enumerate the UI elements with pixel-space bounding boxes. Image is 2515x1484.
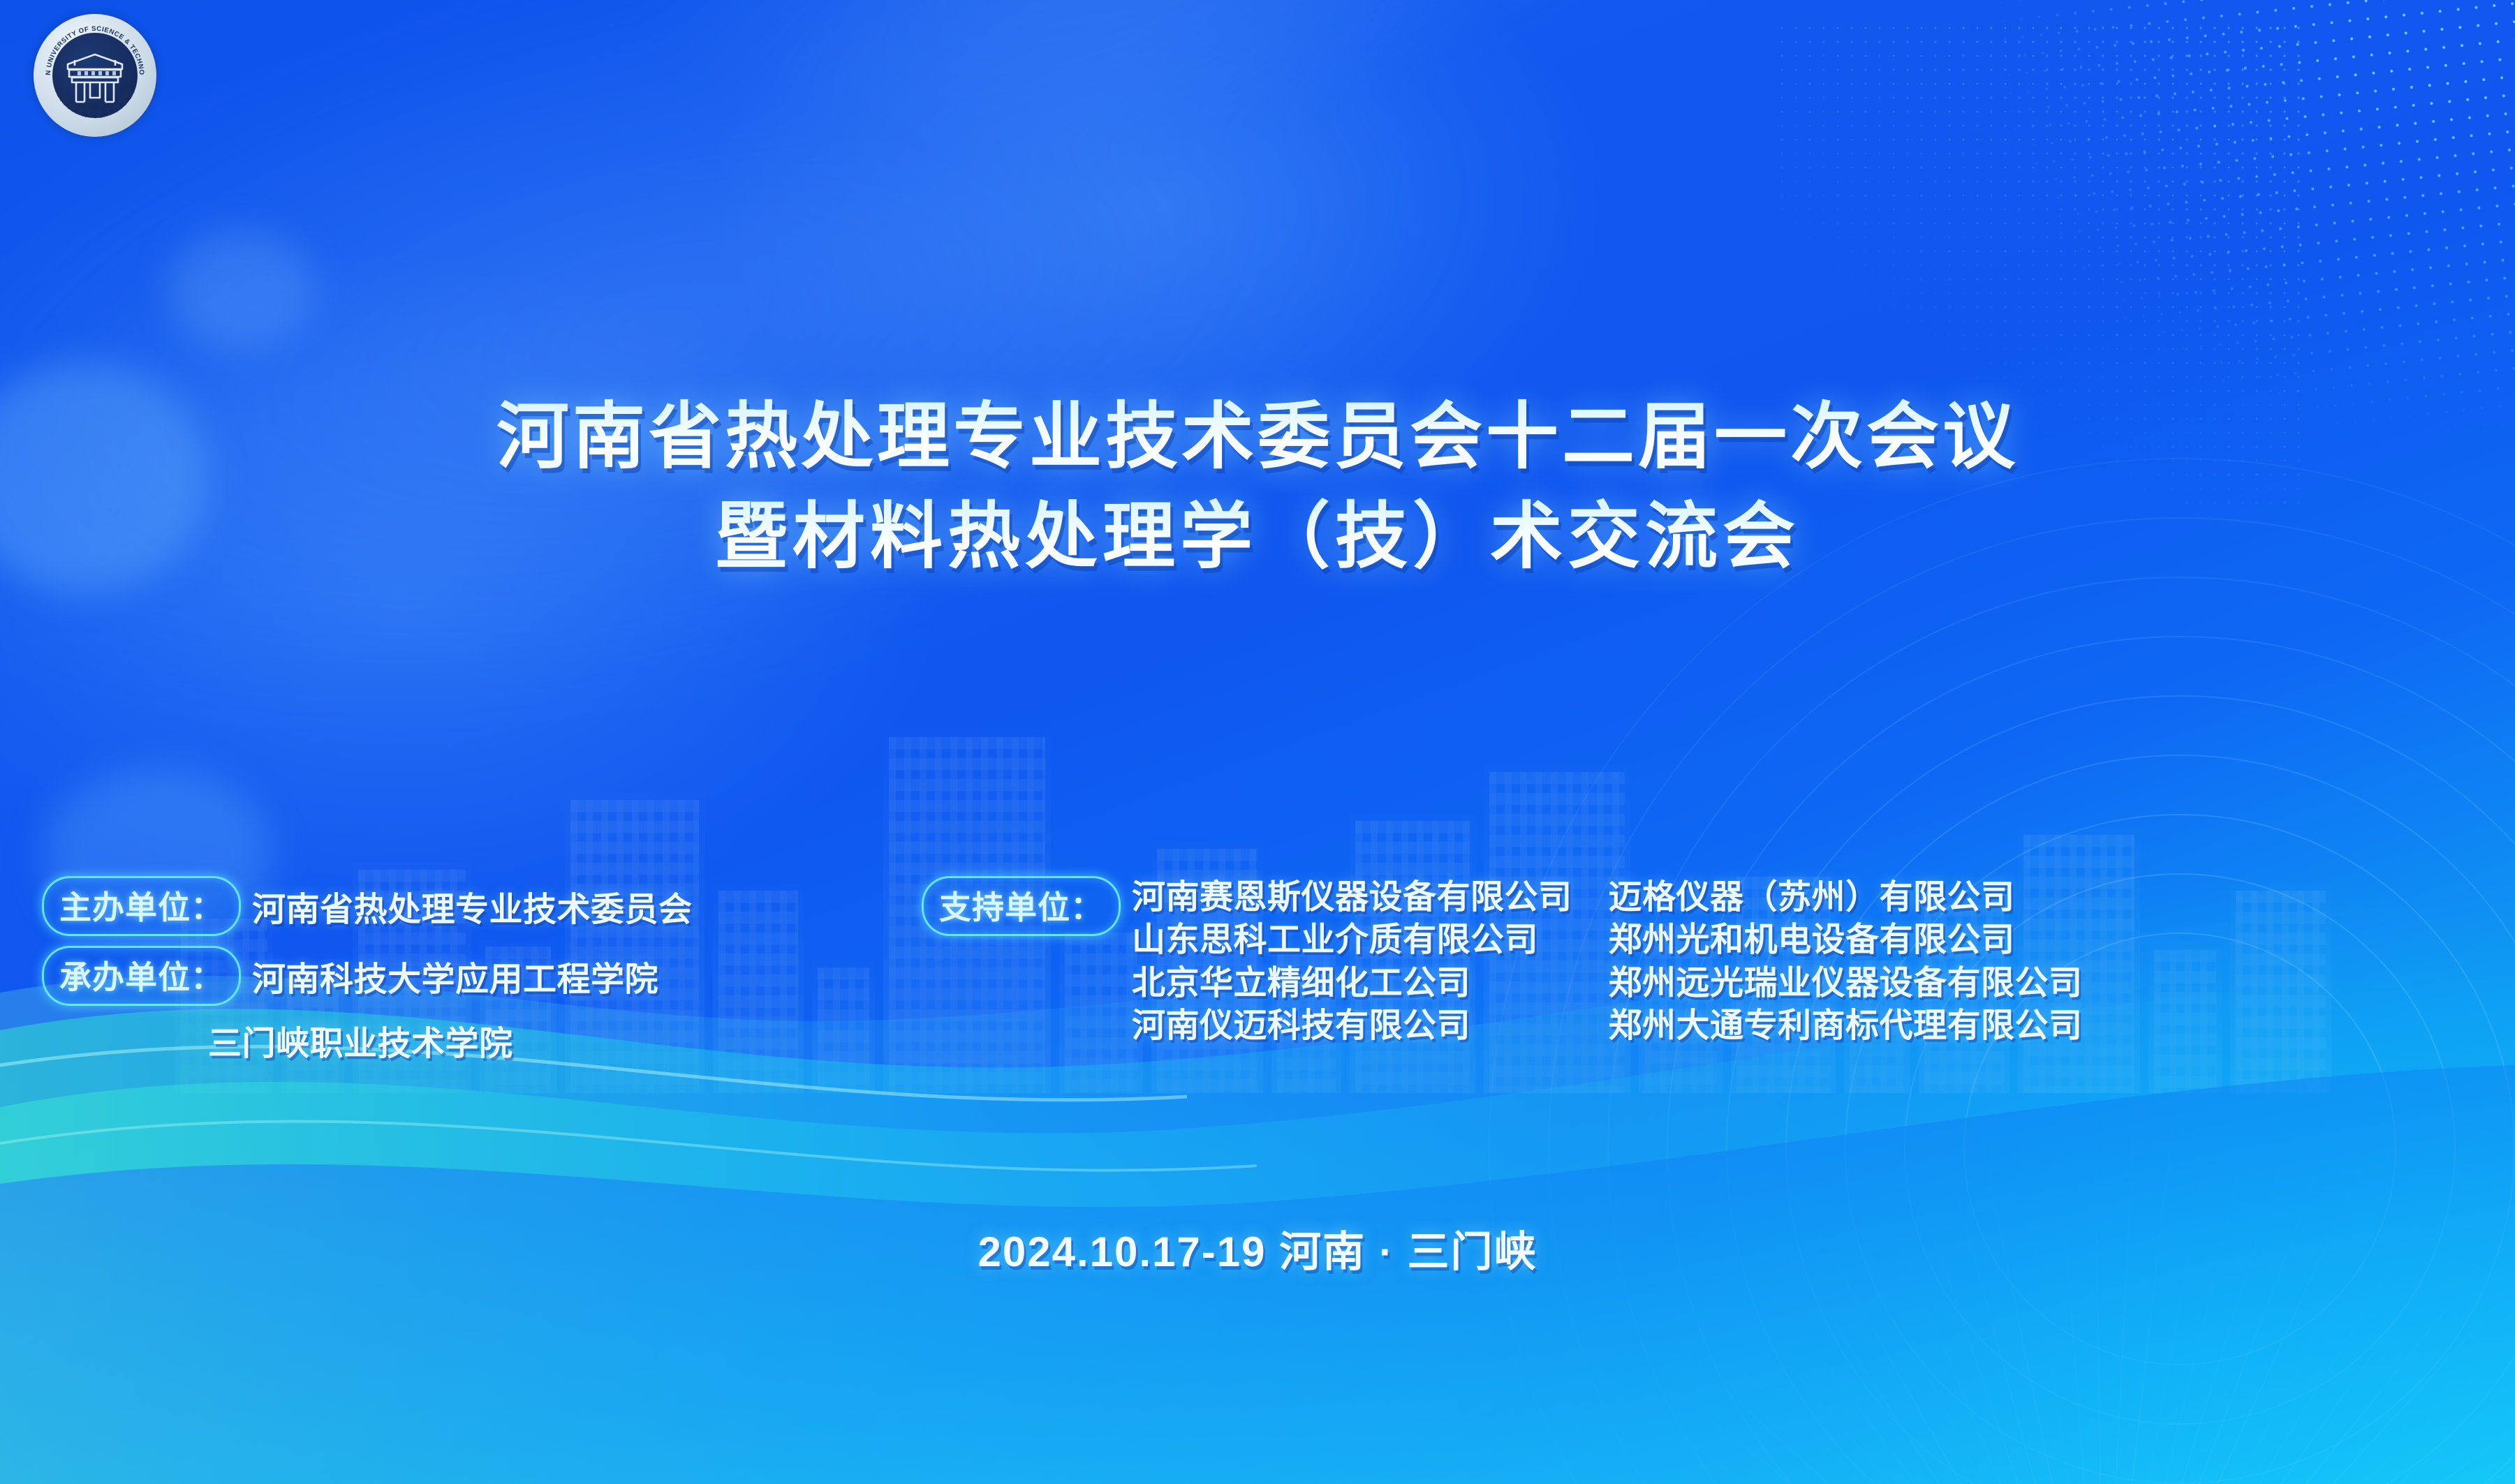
- supporter-item: 郑州大通专利商标代理有限公司: [1609, 1004, 2083, 1047]
- date-location-footer: 2024.10.17-19 河南 · 三门峡: [0, 1218, 2515, 1279]
- bokeh-glow-decoration: [168, 230, 314, 349]
- organizer-unit-name-2: 三门峡职业技术学院: [208, 1016, 922, 1064]
- supporter-item: 郑州远光瑞业仪器设备有限公司: [1609, 962, 2083, 1004]
- host-unit-name: 河南省热处理专业技术委员会: [252, 882, 693, 930]
- supporter-item: 河南赛恩斯仪器设备有限公司: [1132, 876, 1572, 919]
- conference-banner: HENAN UNIVERSITY OF SCIENCE & TECHNOLOGY…: [0, 0, 2515, 1484]
- host-organizer-column: 主办单位： 河南省热处理专业技术委员会 承办单位： 河南科技大学应用工程学院 三…: [42, 876, 922, 1064]
- supporter-item: 河南仪迈科技有限公司: [1132, 1004, 1572, 1047]
- radial-fan-lines-decoration: [1370, 688, 2515, 1484]
- supporter-list: 河南赛恩斯仪器设备有限公司 山东思科工业介质有限公司 北京华立精细化工公司 河南…: [1132, 876, 2083, 1048]
- supporter-item: 山东思科工业介质有限公司: [1132, 919, 1572, 961]
- supporter-item: 郑州光和机电设备有限公司: [1609, 919, 2083, 961]
- supporter-item: 北京华立精细化工公司: [1132, 962, 1572, 1004]
- host-unit-label: 主办单位：: [42, 876, 241, 936]
- title-line-2: 暨材料热处理学（技）术交流会: [0, 491, 2515, 584]
- supporter-column: 支持单位： 河南赛恩斯仪器设备有限公司 山东思科工业介质有限公司 北京华立精细化…: [922, 876, 2473, 1048]
- units-section: 主办单位： 河南省热处理专业技术委员会 承办单位： 河南科技大学应用工程学院 三…: [42, 876, 2473, 1064]
- organizer-unit-name-1: 河南科技大学应用工程学院: [252, 951, 658, 1000]
- supporter-column-left: 河南赛恩斯仪器设备有限公司 山东思科工业介质有限公司 北京华立精细化工公司 河南…: [1132, 876, 1572, 1048]
- university-logo: HENAN UNIVERSITY OF SCIENCE & TECHNOLOGY…: [34, 14, 156, 137]
- gate-tower-icon: [61, 46, 129, 105]
- page-title: 河南省热处理专业技术委员会十二届一次会议 暨材料热处理学（技）术交流会: [0, 391, 2515, 584]
- title-line-1: 河南省热处理专业技术委员会十二届一次会议: [0, 391, 2515, 484]
- supporter-item: 迈格仪器（苏州）有限公司: [1609, 876, 2083, 919]
- supporter-unit-label: 支持单位：: [922, 876, 1121, 936]
- supporter-column-right: 迈格仪器（苏州）有限公司 郑州光和机电设备有限公司 郑州远光瑞业仪器设备有限公司…: [1609, 876, 2083, 1048]
- organizer-unit-label: 承办单位：: [42, 946, 241, 1006]
- organizer-unit-row: 承办单位： 河南科技大学应用工程学院: [42, 946, 922, 1006]
- host-unit-row: 主办单位： 河南省热处理专业技术委员会: [42, 876, 922, 936]
